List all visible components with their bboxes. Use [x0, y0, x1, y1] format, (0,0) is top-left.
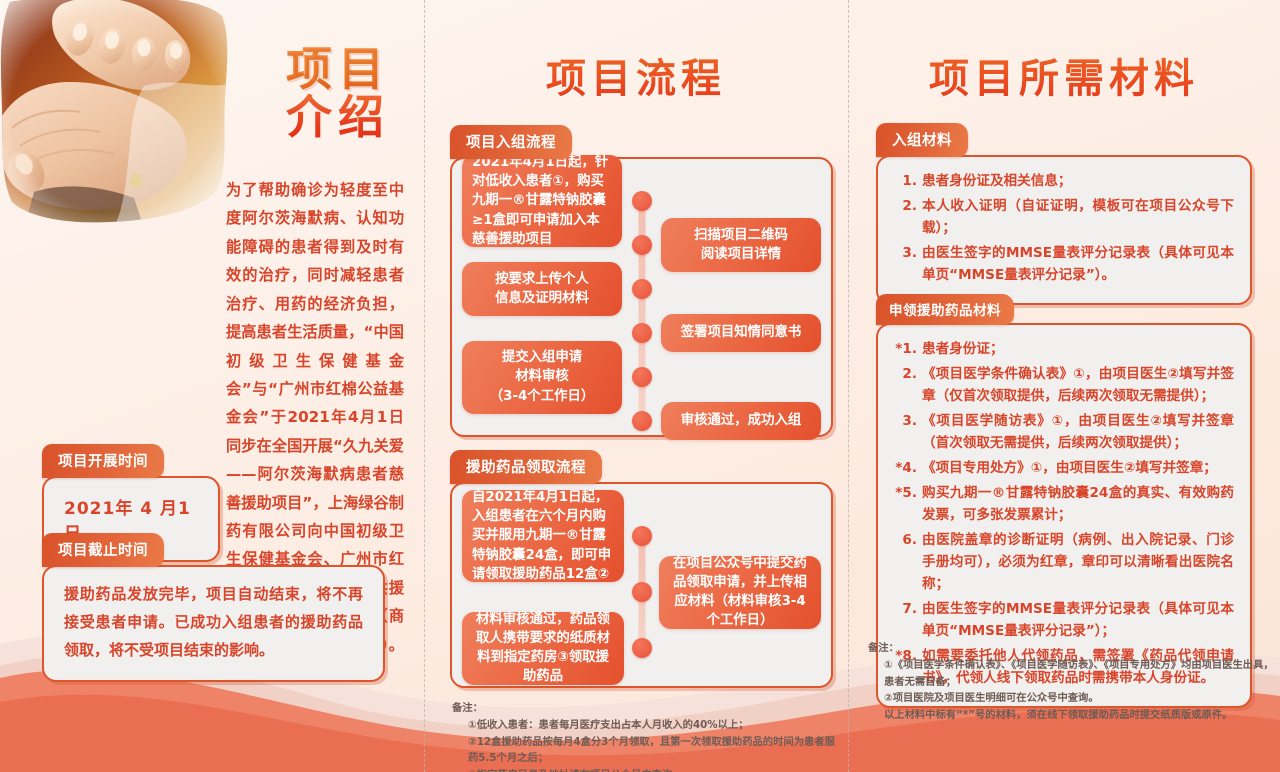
material-item-text: 患者身份证及相关信息；	[922, 170, 1234, 192]
material-item-text: 《项目医学随访表》①，由项目医生②填写并签章（首次领取无需提供，后续两次领取提供…	[922, 410, 1234, 454]
flow-step-1[interactable]: 自2021年4月1日起，入组患者在六个月内购买并服用九期一®甘露特钠胶囊24盒，…	[462, 490, 624, 582]
material-item: 3.由医生签字的MMSE量表评分记录表（具体可见本单页“MMSE量表评分记录”）…	[892, 242, 1234, 286]
process-footnote-3: ③指定药房目录及地址请在项目公众号中查询。	[452, 767, 844, 772]
material-item-number: 2.	[892, 363, 922, 407]
material-item: *4.《项目专用处方》①，由项目医生②填写并签章；	[892, 457, 1234, 479]
enrollment-flow-body: 2021年4月1日起，针对低收入患者①，购买九期一®甘露特钠胶囊≥1盒即可申请加…	[450, 157, 833, 437]
enrollment-materials-card: 入组材料 1.患者身份证及相关信息；2.本人收入证明（自证证明，模板可在项目公众…	[876, 123, 1252, 305]
flow-step-4[interactable]: 签署项目知情同意书	[661, 314, 821, 352]
material-item-text: 由医生签字的MMSE量表评分记录表（具体可见本单页“MMSE量表评分记录”）；	[922, 598, 1234, 642]
flow-node-dot	[632, 191, 652, 211]
material-item-number: *5.	[892, 482, 922, 526]
enrollment-flow-card: 项目入组流程 2021年4月1日起，针对低收入患者①，购买九期一®甘露特钠胶囊≥…	[450, 125, 833, 437]
project-end-body: 援助药品发放完毕，项目自动结束，将不再接受患者申请。已成功入组患者的援助药品领取…	[42, 565, 385, 682]
materials-footnote-3: 以上材料中标有“*”号的材料，须在线下领取援助药品时提交纸质版或原件。	[868, 707, 1276, 723]
flow-node-dot	[632, 235, 652, 255]
enrollment-flow-tab: 项目入组流程	[450, 125, 572, 159]
material-item-text: 《项目专用处方》①，由项目医生②填写并签章；	[922, 457, 1234, 479]
material-item-number: 3.	[892, 242, 922, 286]
flow-node-dot	[632, 279, 652, 299]
page-title-materials: 项目所需材料	[848, 0, 1280, 104]
medicine-claim-flow-diagram: 自2021年4月1日起，入组患者在六个月内购买并服用九期一®甘露特钠胶囊24盒，…	[452, 484, 831, 686]
process-footnotes: 备注： ①低收入患者：患者每月医疗支出占本人月收入的40%以上； ②12盒援助药…	[452, 700, 844, 772]
enrollment-flow-diagram: 2021年4月1日起，针对低收入患者①，购买九期一®甘露特钠胶囊≥1盒即可申请加…	[452, 159, 831, 435]
medicine-claim-flow-body: 自2021年4月1日起，入组患者在六个月内购买并服用九期一®甘露特钠胶囊24盒，…	[450, 482, 833, 688]
project-start-tab: 项目开展时间	[42, 444, 164, 478]
material-item: 6.由医院盖章的诊断证明（病例、出入院记录、门诊手册均可），必须为红章，章印可以…	[892, 529, 1234, 595]
flow-rail	[638, 201, 645, 421]
flow-step-3[interactable]: 材料审核通过，药品领取人携带要求的纸质材料到指定药房③领取援助药品	[462, 612, 624, 685]
process-footnote-1: ①低收入患者：患者每月医疗支出占本人月收入的40%以上；	[452, 717, 844, 733]
project-end-tab: 项目截止时间	[42, 533, 164, 567]
material-item: *5.购买九期一®甘露特钠胶囊24盒的真实、有效购药发票，可多张发票累计；	[892, 482, 1234, 526]
page-title-process: 项目流程	[424, 0, 848, 104]
column-materials: 项目所需材料 入组材料 1.患者身份证及相关信息；2.本人收入证明（自证证明，模…	[848, 0, 1280, 772]
material-item: *1.患者身份证；	[892, 338, 1234, 360]
flow-node-dot	[632, 526, 652, 546]
material-item-text: 患者身份证；	[922, 338, 1234, 360]
enrollment-materials-tab: 入组材料	[876, 123, 968, 157]
material-item: 1.患者身份证及相关信息；	[892, 170, 1234, 192]
title-line-1: 项目	[286, 46, 390, 94]
flow-node-dot	[632, 367, 652, 387]
process-footnotes-head: 备注：	[452, 700, 844, 716]
column-introduction: 项目 介绍 为了帮助确诊为轻度至中度阿尔茨海默病、认知功能障碍的患者得到及时有效…	[0, 0, 424, 772]
flow-step-2[interactable]: 扫描项目二维码 阅读项目详情	[661, 218, 821, 272]
material-item-number: 7.	[892, 598, 922, 642]
flow-step-1[interactable]: 2021年4月1日起，针对低收入患者①，购买九期一®甘露特钠胶囊≥1盒即可申请加…	[462, 155, 622, 247]
flow-node-dot	[632, 323, 652, 343]
project-end-value: 援助药品发放完毕，项目自动结束，将不再接受患者申请。已成功入组患者的援助药品领取…	[44, 567, 383, 680]
material-item-text: 《项目医学条件确认表》①，由项目医生②填写并签章（仅首次领取提供，后续两次领取无…	[922, 363, 1234, 407]
material-item-number: 2.	[892, 195, 922, 239]
material-item: 3.《项目医学随访表》①，由项目医生②填写并签章（首次领取无需提供，后续两次领取…	[892, 410, 1234, 454]
material-item-number: *4.	[892, 457, 922, 479]
material-item-number: *1.	[892, 338, 922, 360]
claim-materials-tab: 申领援助药品材料	[876, 294, 1014, 325]
project-end-card: 项目截止时间 援助药品发放完毕，项目自动结束，将不再接受患者申请。已成功入组患者…	[42, 533, 385, 682]
page-title-introduction: 项目 介绍	[286, 46, 390, 142]
materials-footnote-1: ①《项目医学条件确认表》、《项目医学随访表》、《项目专用处方》均由项目医生出具，…	[868, 657, 1276, 690]
enrollment-materials-body: 1.患者身份证及相关信息；2.本人收入证明（自证证明，模板可在项目公众号下载）；…	[876, 155, 1252, 305]
material-item: 7.由医生签字的MMSE量表评分记录表（具体可见本单页“MMSE量表评分记录”）…	[892, 598, 1234, 642]
material-item-number: 1.	[892, 170, 922, 192]
material-item-number: 6.	[892, 529, 922, 595]
flow-node-dot	[632, 638, 652, 658]
flow-node-dot	[632, 582, 652, 602]
enrollment-materials-list: 1.患者身份证及相关信息；2.本人收入证明（自证证明，模板可在项目公众号下载）；…	[878, 157, 1250, 303]
flow-step-6[interactable]: 审核通过，成功入组	[661, 402, 821, 440]
material-item-number: 3.	[892, 410, 922, 454]
flow-step-3[interactable]: 按要求上传个人 信息及证明材料	[462, 262, 622, 316]
flow-node-dot	[632, 411, 652, 431]
materials-footnote-2: ②项目医院及项目医生明细可在公众号中查询。	[868, 690, 1276, 706]
flow-step-2[interactable]: 在项目公众号中提交药品领取申请，并上传相应材料（材料审核3-4个工作日）	[659, 556, 821, 629]
material-item-text: 由医生签字的MMSE量表评分记录表（具体可见本单页“MMSE量表评分记录”）。	[922, 242, 1234, 286]
material-item-text: 本人收入证明（自证证明，模板可在项目公众号下载）；	[922, 195, 1234, 239]
process-footnote-2: ②12盒援助药品按每月4盒分3个月领取，且第一次领取援助药品的时间为患者服药5.…	[452, 734, 844, 767]
medicine-claim-flow-card: 援助药品领取流程 自2021年4月1日起，入组患者在六个月内购买并服用九期一®甘…	[450, 450, 833, 688]
brochure-page: 项目 介绍 为了帮助确诊为轻度至中度阿尔茨海默病、认知功能障碍的患者得到及时有效…	[0, 0, 1280, 772]
column-process: 项目流程 项目入组流程 2021年4月1日起，针对低收入患者①，购买九期一®甘露…	[424, 0, 848, 772]
material-item: 2.《项目医学条件确认表》①，由项目医生②填写并签章（仅首次领取提供，后续两次领…	[892, 363, 1234, 407]
material-item-text: 购买九期一®甘露特钠胶囊24盒的真实、有效购药发票，可多张发票累计；	[922, 482, 1234, 526]
material-item-text: 由医院盖章的诊断证明（病例、出入院记录、门诊手册均可），必须为红章，章印可以清晰…	[922, 529, 1234, 595]
materials-footnotes: 备注： ①《项目医学条件确认表》、《项目医学随访表》、《项目专用处方》均由项目医…	[868, 640, 1276, 723]
medicine-claim-flow-tab: 援助药品领取流程	[450, 450, 602, 484]
flow-step-5[interactable]: 提交入组申请 材料审核 （3-4个工作日）	[462, 341, 622, 414]
materials-footnotes-head: 备注：	[868, 640, 1276, 656]
title-line-2: 介绍	[286, 94, 390, 142]
material-item: 2.本人收入证明（自证证明，模板可在项目公众号下载）；	[892, 195, 1234, 239]
